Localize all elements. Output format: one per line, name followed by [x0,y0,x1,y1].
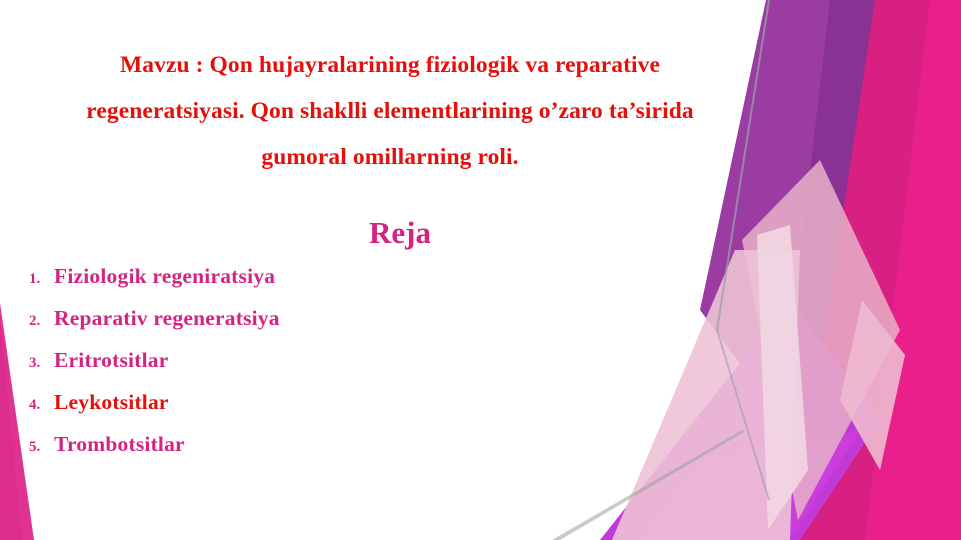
list-item-label: Reparativ regeneratsiya [54,306,280,331]
list-item: 5. Trombotsitlar [0,432,560,474]
title-line-3: gumoral omillarning roli. [20,134,760,180]
list-item-number: 3. [29,355,54,372]
list-item-label: Trombotsitlar [54,432,185,457]
list-item-label: Fiziologik regeniratsiya [54,264,275,289]
list-item-number: 5. [29,439,54,456]
list-item: 3. Eritrotsitlar [0,348,560,390]
list-item: 4. Leykotsitlar [0,390,560,432]
presentation-slide: Mavzu : Qon hujayralarining fiziologik v… [0,0,961,540]
title-line-1: Mavzu : Qon hujayralarining fiziologik v… [20,42,760,88]
plan-list: 1. Fiziologik regeniratsiya 2. Reparativ… [0,264,560,474]
plan-heading: Reja [20,214,780,252]
list-item-number: 1. [29,271,54,288]
list-item-label: Eritrotsitlar [54,348,168,373]
slide-title: Mavzu : Qon hujayralarining fiziologik v… [20,42,760,180]
list-item: 1. Fiziologik regeniratsiya [0,264,560,306]
list-item: 2. Reparativ regeneratsiya [0,306,560,348]
title-line-2: regeneratsiyasi. Qon shaklli elementlari… [20,88,760,134]
list-item-label: Leykotsitlar [54,390,169,415]
list-item-number: 4. [29,397,54,414]
slide-content: Mavzu : Qon hujayralarining fiziologik v… [0,0,961,540]
list-item-number: 2. [29,313,54,330]
